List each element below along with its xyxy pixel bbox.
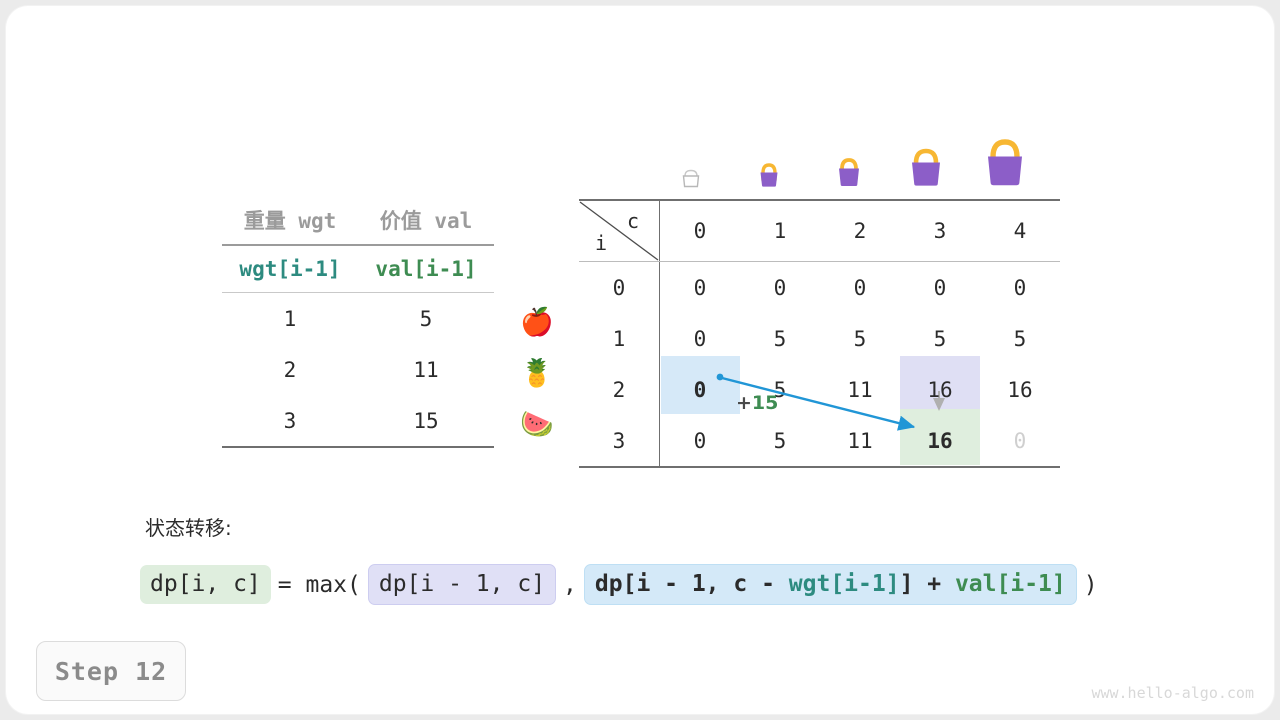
formula-close-paren: ) xyxy=(1077,572,1105,598)
dp-row-3: 3 0 5 11 16 0 xyxy=(579,415,1060,467)
dp-cell-0-0: 0 xyxy=(660,262,741,314)
item-table-row: 3 15 xyxy=(222,395,494,447)
dp-cell-3-3: 16 xyxy=(900,415,980,467)
formula-equals: = max( xyxy=(271,572,368,598)
gain-value: 15 xyxy=(752,392,778,414)
dp-column-header-row: c i 0 1 2 3 4 xyxy=(579,200,1060,262)
formula-option-skip: dp[i - 1, c] xyxy=(368,564,556,605)
item-weight-value-table: 重量 wgt 价值 val wgt[i-1] val[i-1] 1 5 2 11… xyxy=(222,196,494,448)
apple-emoji: 🍎 xyxy=(514,309,560,336)
dp-col-header-4: 4 xyxy=(980,200,1060,262)
item-weight: 1 xyxy=(222,293,358,345)
formula-result: dp[i, c] xyxy=(140,565,271,604)
dp-row-header-2: 2 xyxy=(579,364,660,415)
dp-cell-2-3: 16 xyxy=(900,364,980,415)
item-table-row: 1 5 xyxy=(222,293,494,345)
dp-cell-2-4: 16 xyxy=(980,364,1060,415)
step-badge: Step 12 xyxy=(36,641,186,701)
bag-icon-capacity-0 xyxy=(680,168,702,192)
dp-cell-3-0: 0 xyxy=(660,415,741,467)
formula-take-wgt: wgt[i-1] xyxy=(789,571,900,597)
formula-comma: , xyxy=(556,572,584,598)
dp-cell-1-4: 5 xyxy=(980,313,1060,364)
dp-col-header-1: 1 xyxy=(740,200,820,262)
item-value: 5 xyxy=(358,293,494,345)
dp-corner-label-c: c xyxy=(627,209,639,233)
dp-table: c i 0 1 2 3 4 0 0 0 0 0 0 1 0 5 xyxy=(579,199,1060,468)
dp-cell-3-4: 0 xyxy=(980,415,1060,467)
item-weight: 3 xyxy=(222,395,358,447)
figure-card: 重量 wgt 价值 val wgt[i-1] val[i-1] 1 5 2 11… xyxy=(6,6,1274,714)
transition-label: 状态转移: xyxy=(145,512,232,541)
bag-icon-capacity-1 xyxy=(754,160,784,192)
dp-cell-0-1: 0 xyxy=(740,262,820,314)
formula-take-mid: ] + xyxy=(900,571,955,597)
item-table-subheader-val: val[i-1] xyxy=(358,245,494,293)
dp-cell-1-2: 5 xyxy=(820,313,900,364)
item-weight: 2 xyxy=(222,344,358,395)
dp-col-header-3: 3 xyxy=(900,200,980,262)
dp-row-header-1: 1 xyxy=(579,313,660,364)
formula-take-val: val[i-1] xyxy=(955,571,1066,597)
transition-formula: dp[i, c] = max( dp[i - 1, c] , dp[i - 1,… xyxy=(140,564,1105,605)
dp-cell-0-2: 0 xyxy=(820,262,900,314)
item-table-header-value: 价值 val xyxy=(358,196,494,245)
item-table-subheader-row: wgt[i-1] val[i-1] xyxy=(222,245,494,293)
item-table-header-weight: 重量 wgt xyxy=(222,196,358,245)
watermelon-emoji: 🍉 xyxy=(514,411,560,438)
formula-option-take: dp[i - 1, c - wgt[i-1]] + val[i-1] xyxy=(584,564,1077,605)
dp-row-1: 1 0 5 5 5 5 xyxy=(579,313,1060,364)
item-table-subheader-wgt: wgt[i-1] xyxy=(222,245,358,293)
gain-prefix: + xyxy=(736,392,752,414)
dp-cell-1-1: 5 xyxy=(740,313,820,364)
bag-icon-capacity-4 xyxy=(976,134,1034,192)
item-table-header-row: 重量 wgt 价值 val xyxy=(222,196,494,245)
item-value: 15 xyxy=(358,395,494,447)
dp-row-header-0: 0 xyxy=(579,262,660,314)
item-value: 11 xyxy=(358,344,494,395)
dp-cell-2-2: 11 xyxy=(820,364,900,415)
gain-label: +15 xyxy=(736,392,778,414)
dp-corner-label-i: i xyxy=(595,231,607,255)
dp-cell-3-1: 5 xyxy=(740,415,820,467)
dp-cell-0-3: 0 xyxy=(900,262,980,314)
dp-row-2: 2 0 5 11 16 16 xyxy=(579,364,1060,415)
dp-row-header-3: 3 xyxy=(579,415,660,467)
item-table-row: 2 11 xyxy=(222,344,494,395)
dp-corner-cell: c i xyxy=(579,200,660,262)
dp-cell-0-4: 0 xyxy=(980,262,1060,314)
dp-cell-2-0: 0 xyxy=(660,364,741,415)
bag-icon-capacity-2 xyxy=(831,154,867,192)
pineapple-emoji: 🍍 xyxy=(514,360,560,387)
formula-take-prefix: dp[i - 1, c - xyxy=(595,571,789,597)
dp-col-header-2: 2 xyxy=(820,200,900,262)
bag-icon-capacity-3 xyxy=(902,144,950,192)
dp-row-0: 0 0 0 0 0 0 xyxy=(579,262,1060,314)
dp-col-header-0: 0 xyxy=(660,200,741,262)
watermark: www.hello-algo.com xyxy=(1091,684,1254,702)
dp-cell-3-2: 11 xyxy=(820,415,900,467)
